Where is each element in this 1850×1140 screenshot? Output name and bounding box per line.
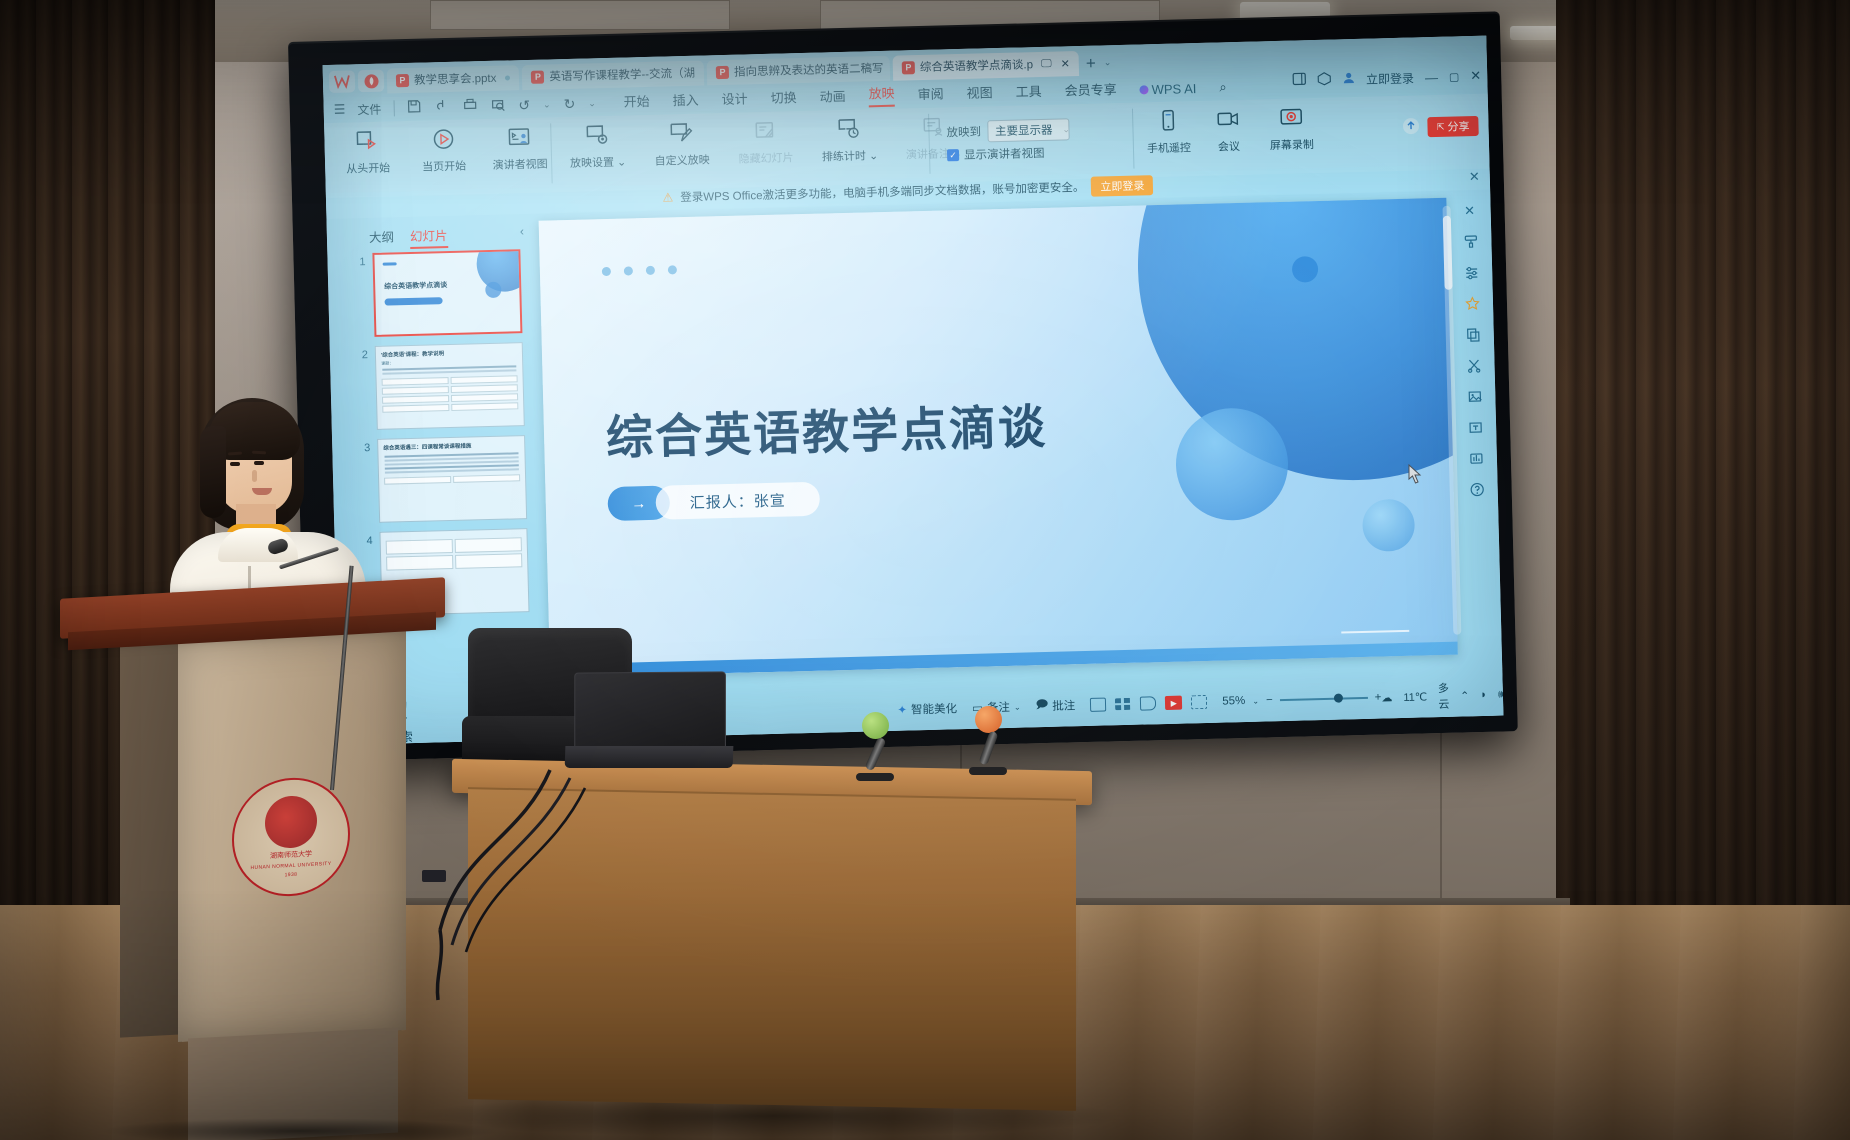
ai-sparkle-icon (1140, 85, 1149, 94)
hide-slide-button[interactable]: 隐藏幻灯片 (730, 115, 801, 167)
mouse-cursor (1408, 464, 1423, 489)
monitor-select[interactable]: 主要显示器 (987, 118, 1070, 142)
panel-icon[interactable] (1292, 72, 1306, 88)
maximize-button[interactable]: ▢ (1449, 70, 1460, 83)
notice-close-icon[interactable]: ✕ (1469, 169, 1480, 185)
slide-presenter-block: → 汇报人：张宣 (607, 482, 820, 521)
show-to-monitor-group: 放映到 主要显示器 ⌄ (946, 118, 1070, 143)
zoom-caret-icon[interactable]: ⌄ (1252, 696, 1259, 705)
ribbon-tab-insert[interactable]: 插入 (672, 90, 699, 113)
hide-slide-icon (752, 116, 779, 147)
powerpoint-icon: P (531, 70, 544, 83)
fullscreen-icon[interactable] (1191, 695, 1207, 709)
search-icon[interactable]: ⌕ (1219, 79, 1227, 98)
cube-icon[interactable] (1317, 71, 1331, 88)
custom-show-button[interactable]: 自定义放映 (646, 117, 717, 169)
scrollbar-thumb[interactable] (1443, 216, 1453, 290)
zoom-slider-handle (1334, 694, 1343, 703)
slide-canvas[interactable]: 综合英语教学点滴谈 → 汇报人：张宣 (539, 198, 1458, 678)
ribbon-tab-start[interactable]: 开始 (623, 91, 650, 114)
document-tab-label: 英语写作课程教学--交流（湖 (549, 65, 695, 85)
help-icon[interactable] (1467, 480, 1486, 499)
chevron-down-icon: ⌄ (1014, 702, 1021, 711)
slide-panel-tabs: 大纲 幻灯片 (327, 215, 533, 253)
print-icon[interactable] (462, 97, 477, 115)
conference-room-scene: P 教学思享会.pptx P 英语写作课程教学--交流（湖 P 指向思辨及表达的… (0, 0, 1850, 1140)
presenter-view-button[interactable]: 演讲者视图 (488, 121, 551, 173)
decor-footer-line (1341, 630, 1409, 634)
decor-dots (602, 265, 677, 276)
slide-thumbnail-pill (385, 297, 443, 305)
minimize-button[interactable]: — (1425, 69, 1438, 84)
meeting-icon (1216, 104, 1241, 135)
screen-record-icon (1279, 102, 1304, 133)
screen-record-label: 屏幕录制 (1270, 136, 1314, 153)
print-preview-icon[interactable] (490, 97, 505, 115)
undo-caret-icon[interactable]: ⌄ (543, 99, 551, 110)
cloud-sync-icon[interactable] (434, 98, 449, 116)
smart-beautify-label: 智能美化 (911, 700, 957, 717)
ribbon-group-setup: 放映设置 ⌄ 自定义放映 隐藏幻灯片 (562, 111, 969, 171)
notice-login-button[interactable]: 立即登录 (1091, 175, 1153, 197)
rehearse-timing-button[interactable]: 排练计时 ⌄ (814, 113, 885, 165)
document-tab-label: 综合英语教学点滴谈.p (920, 56, 1033, 75)
hamburger-icon[interactable]: ☰ (334, 102, 346, 118)
close-button[interactable]: ✕ (1470, 68, 1481, 84)
login-button[interactable]: 立即登录 (1366, 69, 1414, 87)
magic-wand-icon: ✦ (897, 703, 907, 717)
decor-circle-tiny (1362, 499, 1415, 552)
account-icon[interactable] (1342, 71, 1355, 87)
volume-icon[interactable]: 🕪 (1498, 688, 1504, 701)
chevron-left-icon[interactable]: ‹ (520, 224, 524, 238)
cloudy-icon: ☁ (1381, 691, 1392, 704)
share-button[interactable]: ⇱ 分享 (1428, 116, 1479, 137)
play-current-label: 当页开始 (422, 158, 466, 175)
show-settings-button[interactable]: 放映设置 ⌄ (562, 119, 633, 171)
rehearse-timing-label: 排练计时 ⌄ (822, 147, 879, 164)
redo-caret-icon[interactable]: ⌄ (588, 98, 596, 109)
text-box-icon[interactable] (1465, 418, 1484, 437)
slide-title: 综合英语教学点滴谈 (605, 388, 1048, 468)
checkbox-checked-icon: ✓ (947, 149, 959, 161)
hide-slide-label: 隐藏幻灯片 (738, 149, 793, 166)
speaker-notes-icon (920, 111, 947, 142)
custom-show-icon (668, 118, 695, 149)
undo-icon[interactable]: ↺ (518, 96, 530, 113)
new-tab-button[interactable]: + (1086, 54, 1096, 71)
slide-sorter-icon[interactable] (1115, 698, 1131, 710)
slide-thumbnail-title: 综合英语遇三：四课程常谈课程措施 (378, 436, 524, 454)
slide-thumbnail-card: '综合英语'课程：教学说明 课题： (375, 342, 525, 430)
custom-show-label: 自定义放映 (654, 151, 709, 168)
show-presenter-view-checkbox[interactable]: ✓ 显示演讲者视图 (947, 145, 1045, 163)
phone-remote-button[interactable]: 手机遥控 (1142, 105, 1195, 156)
play-from-start-button[interactable]: 从头开始 (336, 125, 399, 177)
ribbon-tab-design[interactable]: 设计 (721, 88, 748, 111)
view-mode-buttons: ▶ (1090, 695, 1207, 712)
slide-thumbnail[interactable]: 1 综合英语教学点滴谈 (353, 249, 534, 338)
emblem-en-label: HUNAN NORMAL UNIVERSITY (251, 861, 332, 871)
close-icon[interactable]: ✕ (1460, 201, 1479, 220)
zoom-level-label: 55% (1222, 695, 1245, 708)
star-icon[interactable] (1462, 294, 1481, 313)
play-icon[interactable]: ▶ (1165, 696, 1182, 710)
copy-icon[interactable] (1463, 325, 1482, 344)
ribbon-tab-view[interactable]: 视图 (966, 82, 993, 105)
emblem-cn-label: 湖南师范大学 (270, 849, 312, 861)
rehearse-timing-icon (836, 113, 863, 144)
powerpoint-icon: P (716, 65, 729, 78)
file-menu-button[interactable]: 文件 (357, 100, 381, 118)
slide-presenter-label: 汇报人：张宣 (655, 482, 820, 520)
meeting-button[interactable]: 会议 (1208, 104, 1249, 155)
comment-icon: 🗩 (1035, 696, 1048, 715)
ribbon-tab-animation[interactable]: 动画 (819, 86, 846, 109)
wps-ai-button[interactable]: WPS AI (1139, 81, 1196, 100)
ribbon-tab-member[interactable]: 会员专享 (1064, 79, 1117, 102)
presenter-view-label: 演讲者视图 (492, 155, 547, 172)
share-label: 分享 (1447, 118, 1469, 135)
play-current-icon (430, 124, 457, 155)
unsaved-dot-icon (505, 75, 510, 80)
right-side-toolbar: ✕ (1454, 193, 1496, 669)
podium: 湖南师范大学 HUNAN NORMAL UNIVERSITY 1938 (60, 588, 445, 1140)
normal-view-icon[interactable] (1090, 698, 1106, 712)
slide-number: 2 (356, 346, 368, 361)
system-tray: ☁ 11℃ 多云 ⌃ ◗ 🕪 中 16:12 2024/12/6 🗨 (1381, 676, 1503, 714)
powerpoint-icon: P (396, 73, 409, 86)
weather-label: 多云 (1438, 680, 1450, 712)
save-icon[interactable] (406, 99, 421, 117)
tab-monitor-icon[interactable]: 🖵 (1041, 57, 1052, 70)
document-tab[interactable]: P 教学思享会.pptx (387, 65, 520, 93)
tab-list-caret-icon[interactable]: ⌄ (1104, 57, 1112, 68)
slide-thumbnail-title: 综合英语教学点滴谈 (384, 280, 447, 292)
slides-tab[interactable]: 幻灯片 (410, 225, 448, 245)
emblem-year-label: 1938 (285, 872, 298, 879)
show-settings-icon (584, 120, 611, 151)
meeting-label: 会议 (1218, 138, 1240, 155)
slide-thumbnail-card: 综合英语教学点滴谈 (372, 249, 522, 337)
wifi-icon[interactable]: ◗ (1480, 689, 1487, 701)
powerpoint-icon: P (902, 61, 915, 74)
paint-format-icon[interactable] (1461, 232, 1480, 251)
upload-icon[interactable] (1403, 117, 1421, 137)
slide-canvas-area: 综合英语教学点滴谈 → 汇报人：张宣 (538, 192, 1458, 698)
share-icon: ⇱ (1437, 121, 1445, 132)
show-presenter-view-label: 显示演讲者视图 (964, 145, 1045, 163)
phone-remote-icon (1156, 105, 1181, 136)
temperature-label: 11℃ (1403, 690, 1427, 704)
zoom-control: 55% ⌄ − + (1222, 692, 1381, 708)
chart-icon[interactable] (1466, 449, 1485, 468)
ribbon-tab-tools[interactable]: 工具 (1015, 81, 1042, 104)
settings-sliders-icon[interactable] (1461, 263, 1480, 282)
slide-number: 1 (353, 253, 365, 268)
zoom-out-button[interactable]: − (1266, 694, 1273, 706)
table-microphone (862, 712, 894, 781)
scissors-icon[interactable] (1464, 356, 1483, 375)
ribbon-group-tools: 手机遥控 会议 屏幕录制 (1142, 102, 1321, 156)
notice-text: 登录WPS Office激活更多功能，电脑手机多端同步文档数据，账号加密更安全。 (680, 179, 1084, 205)
wps-cloud-icon[interactable] (358, 70, 385, 93)
comments-button[interactable]: 🗩 批注 (1035, 696, 1075, 716)
presenter-view-icon (506, 122, 533, 153)
table-microphone (975, 706, 1007, 775)
tray-expand-icon[interactable]: ⌃ (1460, 689, 1470, 702)
image-icon[interactable] (1465, 387, 1484, 406)
emblem-bird-icon (265, 795, 317, 850)
wps-logo-icon[interactable] (329, 70, 356, 93)
outline-tab[interactable]: 大纲 (369, 226, 394, 246)
smart-beautify-button[interactable]: ✦ 智能美化 (897, 700, 957, 718)
document-tab-label: 教学思享会.pptx (414, 70, 497, 88)
slide-thumbnail-card: 综合英语遇三：四课程常谈课程措施 (377, 435, 527, 523)
wps-ai-label: WPS AI (1151, 81, 1196, 97)
show-settings-label: 放映设置 ⌄ (570, 153, 627, 170)
play-from-start-icon (354, 126, 381, 157)
ribbon-group-playback: 从头开始 当页开始 演讲者视图 (336, 121, 551, 176)
window-controls: 立即登录 — ▢ ✕ (1292, 64, 1482, 93)
laptop (565, 672, 735, 787)
redo-icon[interactable]: ↻ (563, 95, 575, 112)
zoom-slider-track[interactable] (1280, 697, 1368, 701)
reading-view-icon[interactable] (1140, 696, 1156, 710)
ribbon-tab-review[interactable]: 审阅 (917, 83, 944, 106)
document-tab-label: 指向思辨及表达的英语二稿写 (734, 60, 884, 80)
play-current-button[interactable]: 当页开始 (412, 123, 475, 175)
comments-label: 批注 (1052, 697, 1075, 714)
phone-remote-label: 手机遥控 (1147, 139, 1191, 156)
tab-close-icon[interactable]: ✕ (1060, 57, 1070, 70)
warning-icon: ⚠ (662, 190, 673, 204)
play-from-start-label: 从头开始 (346, 159, 390, 176)
ribbon-tab-slideshow[interactable]: 放映 (868, 83, 895, 108)
show-to-label: 放映到 (946, 123, 981, 140)
screen-record-button[interactable]: 屏幕录制 (1262, 102, 1321, 153)
ribbon-tab-transition[interactable]: 切换 (770, 87, 797, 110)
editor-main-area: 大纲 幻灯片 ‹ 1 综合英语教学点滴谈 (327, 191, 1503, 703)
